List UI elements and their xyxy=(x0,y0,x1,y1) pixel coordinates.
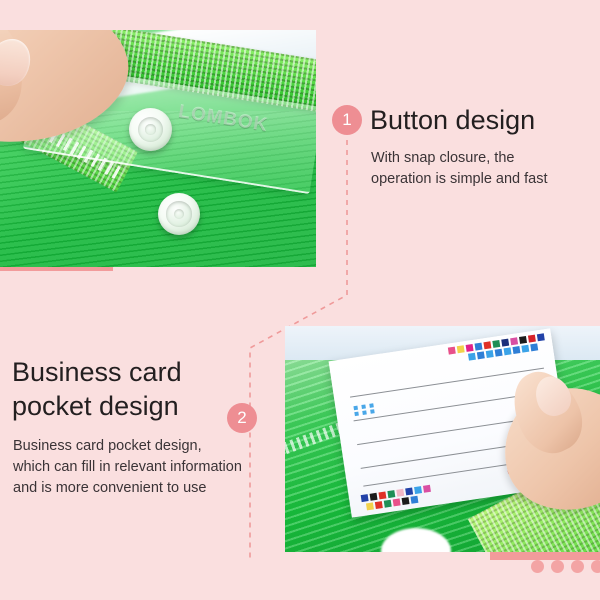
section-2-body: Business card pocket design, which can f… xyxy=(13,436,242,499)
step-badge-2: 2 xyxy=(227,403,257,433)
card-swatch xyxy=(466,344,474,352)
photo-card-pocket: LOMB xyxy=(285,326,600,552)
card-swatch xyxy=(457,345,465,353)
snap-button-lower xyxy=(158,193,200,235)
card-swatch xyxy=(393,498,401,506)
thumbnail xyxy=(0,31,39,93)
infographic-page: LOMBOK LOMB xyxy=(0,0,600,600)
card-corner-dot xyxy=(362,410,367,415)
card-swatch xyxy=(528,335,536,343)
photo-button-design: LOMBOK xyxy=(0,30,316,267)
section-2-heading: Business card pocket design xyxy=(12,355,182,423)
section-1-heading: Button design xyxy=(370,103,535,137)
card-swatch xyxy=(504,347,512,355)
decor-dot xyxy=(591,560,600,573)
section-1-body: With snap closure, the operation is simp… xyxy=(371,148,548,190)
card-swatch xyxy=(448,347,456,355)
card-corner-dot xyxy=(370,409,375,414)
card-swatch xyxy=(396,489,404,497)
card-swatch xyxy=(414,486,422,494)
card-corner-dot xyxy=(369,403,374,408)
card-swatch xyxy=(410,496,418,504)
card-swatch xyxy=(537,333,545,341)
thumb xyxy=(0,30,28,127)
card-swatch xyxy=(475,343,483,351)
card-swatch xyxy=(486,350,494,358)
card-corner-dot xyxy=(361,404,366,409)
card-swatch xyxy=(370,493,378,501)
card-swatch xyxy=(495,349,503,357)
card-swatch xyxy=(512,346,520,354)
card-swatch xyxy=(405,487,413,495)
card-corner-dot xyxy=(353,406,358,411)
card-swatch xyxy=(384,500,392,508)
card-swatch xyxy=(483,341,491,349)
card-swatch xyxy=(519,336,527,344)
snap-button-upper xyxy=(129,108,172,151)
card-swatch xyxy=(492,340,500,348)
decorative-dot-row xyxy=(531,560,600,573)
decor-dot xyxy=(531,560,544,573)
decor-dot xyxy=(551,560,564,573)
card-swatch xyxy=(423,485,431,493)
card-swatch xyxy=(402,497,410,505)
decor-dot xyxy=(571,560,584,573)
card-swatch xyxy=(387,490,395,498)
card-swatch xyxy=(468,353,476,361)
step-badge-1: 1 xyxy=(332,105,362,135)
card-swatch xyxy=(361,494,369,502)
card-swatch xyxy=(378,491,386,499)
card-corner-dots xyxy=(353,403,376,416)
card-swatch xyxy=(501,339,509,347)
card-swatch xyxy=(521,345,529,353)
card-swatch xyxy=(366,502,374,510)
card-swatch xyxy=(510,337,518,345)
card-swatch xyxy=(530,343,538,351)
card-swatch xyxy=(375,501,383,509)
card-swatch xyxy=(477,351,485,359)
card-corner-dot xyxy=(354,412,359,417)
accent-bar-bottom xyxy=(490,551,600,560)
